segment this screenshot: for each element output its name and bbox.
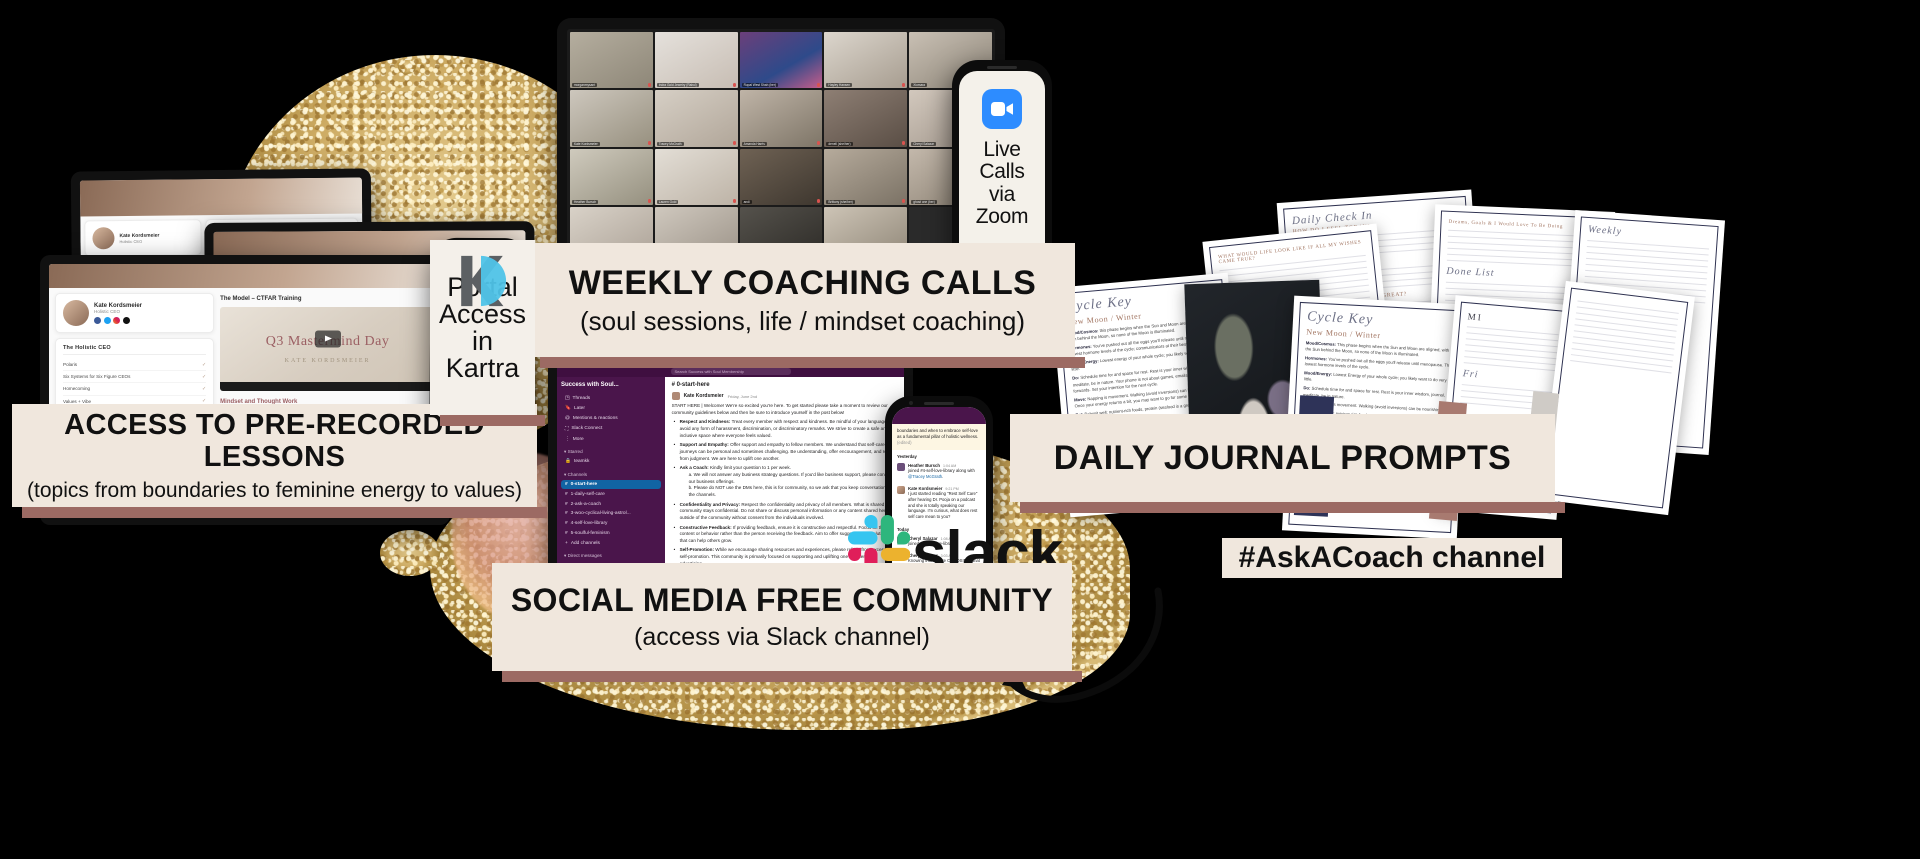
mic-muted-icon xyxy=(817,83,820,87)
zoom-tile[interactable]: morganmysant xyxy=(570,32,653,88)
worksheet-far-right xyxy=(1539,281,1695,515)
banner-weekly-coaching-calls: WEEKLY COACHING CALLS (soul sessions, li… xyxy=(530,243,1075,357)
check-icon: ✓ xyxy=(202,386,206,392)
phone-speaker xyxy=(924,402,954,405)
slack-search-input[interactable]: Search Success with Soul Membership xyxy=(671,368,791,375)
tiktok-icon[interactable] xyxy=(123,317,130,324)
portal-brand: Kate Kordsmeier xyxy=(119,232,159,238)
at-icon: @ xyxy=(565,416,570,421)
bookmark-icon: 🔖 xyxy=(565,406,571,411)
sidebar-section-channels[interactable]: ▾ Channels xyxy=(564,472,661,478)
facebook-icon[interactable] xyxy=(94,317,101,324)
hash-icon: # xyxy=(565,492,568,497)
zoom-participant-grid: morganmysant Indra Gold Jewelry (Rahul) … xyxy=(567,29,995,266)
guideline-item: Ask a Coach: Kindly limit your question … xyxy=(680,465,897,498)
live-calls-via-zoom-label: Live Calls via Zoom xyxy=(976,139,1028,229)
hash-icon: # xyxy=(565,502,568,507)
ellipsis-icon: ⋮ xyxy=(565,437,570,442)
participant-name: Lauren Gold xyxy=(657,200,679,204)
chevron-down-icon: ▾ xyxy=(564,449,566,454)
edited-tag: (edited) xyxy=(897,440,912,445)
portal-lesson-title: The Model – CTFAR Training xyxy=(220,296,435,302)
message-date: Friday, June 2nd xyxy=(728,394,758,399)
zoom-tile[interactable]: Lauren Gold xyxy=(655,149,738,205)
banner-subtitle: (access via Slack channel) xyxy=(634,623,930,651)
avatar xyxy=(897,463,905,471)
participant-name: Cheryl Salazar xyxy=(911,142,936,146)
sidebar-item-slack-connect[interactable]: ⛶ Slack Connect xyxy=(561,423,661,434)
sidebar-section-direct-messages[interactable]: ▾ Direct messages xyxy=(564,553,661,559)
sidebar-channel-3-woo-cyclical-living[interactable]: # 3-woo-cyclical-living-astrol... xyxy=(561,509,661,519)
mic-muted-icon xyxy=(817,199,820,203)
banner-title: WEEKLY COACHING CALLS xyxy=(569,264,1036,302)
sidebar-item-later[interactable]: 🔖 Later xyxy=(561,404,661,414)
sidebar-item-threads[interactable]: ◳ Threads xyxy=(561,394,661,404)
plus-icon: + xyxy=(565,541,568,546)
participant-name: Heather Bursch xyxy=(572,200,598,204)
zoom-tile[interactable]: andi xyxy=(740,149,823,205)
check-icon: ✓ xyxy=(202,362,206,368)
label-line: via xyxy=(976,184,1028,206)
mic-muted-icon xyxy=(902,83,905,87)
connect-icon: ⛶ xyxy=(565,426,568,432)
participant-name: Hayley Hansen xyxy=(826,83,852,87)
sidebar-channel-0-start-here[interactable]: # 0-start-here xyxy=(561,480,661,490)
phone-camera xyxy=(909,401,913,405)
sidebar-item-teamkk[interactable]: 🔒 teamkk xyxy=(561,457,661,467)
mic-muted-icon xyxy=(648,141,651,145)
mic-muted-icon xyxy=(817,141,820,145)
check-icon: ✓ xyxy=(202,374,206,380)
mic-muted-icon xyxy=(902,199,905,203)
sidebar-channel-5-soulful-feminism[interactable]: # 5-soulful-feminism xyxy=(561,529,661,539)
social-links[interactable] xyxy=(94,317,142,324)
message-author: Kate Kordsmeier xyxy=(684,393,724,399)
participant-name: Rupal West Shah (her) xyxy=(742,83,778,87)
hash-icon: # xyxy=(565,521,568,526)
gold-glitter-speck-left2 xyxy=(360,90,370,99)
video-author: KATE KORDSMEIER xyxy=(285,358,371,364)
sidebar-section-starred[interactable]: ▾ Starred xyxy=(564,449,661,455)
avatar xyxy=(897,486,905,494)
mic-muted-icon xyxy=(648,83,651,87)
zoom-tile[interactable]: Amanda Harris xyxy=(740,90,823,146)
sidebar-item-mentions[interactable]: @ Mentions & reactions xyxy=(561,414,661,424)
banner-subtitle: (topics from boundaries to feminine ener… xyxy=(27,479,522,503)
zoom-meeting-screen: morganmysant Indra Gold Jewelry (Rahul) … xyxy=(567,29,995,266)
play-button[interactable] xyxy=(315,330,341,347)
banner-daily-journal-prompts: DAILY JOURNAL PROMPTS xyxy=(1010,414,1555,502)
avatar xyxy=(63,300,89,326)
banner-title: SOCIAL MEDIA FREE COMMUNITY xyxy=(511,583,1053,619)
guideline-subpoint: a. We will not answer any business strat… xyxy=(689,472,897,485)
paper-subtitle: Fri xyxy=(1462,368,1555,387)
avatar xyxy=(672,392,680,400)
mic-muted-icon xyxy=(733,141,736,145)
label-line: in xyxy=(439,328,526,355)
slack-workspace-name[interactable]: Success with Soul... xyxy=(561,382,661,388)
sidebar-add-channels[interactable]: + Add channels xyxy=(561,538,661,548)
ask-a-coach-channel-label: #AskACoach channel xyxy=(1222,538,1562,578)
participant-name: Tracey McGrath xyxy=(657,142,684,146)
portal-brand-sub: Holistic CEO xyxy=(119,238,159,243)
day-divider: Yesterday xyxy=(892,450,986,460)
video-camera-icon xyxy=(991,102,1013,116)
zoom-tile[interactable]: Hayley Hansen xyxy=(824,32,907,88)
message-body: joined #4-self-love-library along with @… xyxy=(908,468,981,480)
participant-name: Brittany (she/her) xyxy=(826,200,854,204)
label-line: Kartra xyxy=(439,355,526,382)
list-item[interactable]: Six Systems for Six Figure CEOs✓ xyxy=(63,371,206,383)
participant-name: Kate Kordsmeier xyxy=(572,142,600,146)
banner-title: DAILY JOURNAL PROMPTS xyxy=(1054,439,1511,477)
list-item[interactable]: Polaris✓ xyxy=(63,359,206,371)
instagram-icon[interactable] xyxy=(113,317,120,324)
mic-muted-icon xyxy=(902,141,905,145)
sidebar-channel-4-self-love-library[interactable]: # 4-self-love-library xyxy=(561,519,661,529)
label-line: Zoom xyxy=(976,206,1028,228)
message-row[interactable]: Heather Bursch1:04 AM joined #4-self-lov… xyxy=(892,460,986,483)
lock-icon: 🔒 xyxy=(565,459,571,464)
participant-name: morganmysant xyxy=(572,83,597,87)
hash-icon: # xyxy=(565,482,568,487)
label-line: Live xyxy=(976,139,1028,161)
hash-icon: # xyxy=(565,511,568,516)
user-mention[interactable]: @Tracey McGrath xyxy=(908,474,942,479)
mic-muted-icon xyxy=(648,199,651,203)
video-player[interactable]: Q3 Mastermind Day KATE KORDSMEIER xyxy=(220,307,435,391)
chevron-down-icon: ▾ xyxy=(564,553,566,558)
gold-glitter-speck-bottom xyxy=(380,530,440,576)
participant-name: denell (she/her) xyxy=(826,142,852,146)
slack-mobile-pinned: boundaries and when to embrace self-love… xyxy=(892,424,986,450)
avatar xyxy=(92,227,114,249)
zoom-app-icon[interactable] xyxy=(982,89,1022,129)
mic-muted-icon xyxy=(733,199,736,203)
banner-subtitle: (soul sessions, life / mindset coaching) xyxy=(580,307,1025,336)
sidebar-channel-2-ask-a-coach[interactable]: # 2-ask-a-coach xyxy=(561,499,661,509)
slack-channel-header[interactable]: # 0-start-here xyxy=(672,382,897,388)
promo-collage: Kate Kordsmeier Holistic CEO The Holisti… xyxy=(0,0,1920,859)
banner-social-media-free-community: SOCIAL MEDIA FREE COMMUNITY (access via … xyxy=(492,563,1072,671)
hash-icon: # xyxy=(565,531,568,536)
mic-muted-icon xyxy=(733,83,736,87)
message-body: I just started reading "Rest Self Care" … xyxy=(908,491,981,520)
pinned-intro: START HERE | Welcome! We're so excited y… xyxy=(672,403,897,416)
phone-speaker xyxy=(987,66,1017,69)
guideline-subpoint: b. Please do NOT use the DMs here, this … xyxy=(689,485,897,498)
zoom-tile[interactable]: Rupal West Shah (her) xyxy=(740,32,823,88)
zoom-tile[interactable]: Tracey McGrath xyxy=(655,90,738,146)
kartra-logo-icon-large xyxy=(448,248,514,314)
participant-name: andi xyxy=(742,200,752,204)
zoom-tile[interactable]: denell (she/her) xyxy=(824,90,907,146)
guideline-item: Respect and Kindness: Treat every member… xyxy=(680,419,897,439)
gold-glitter-speck-left xyxy=(398,60,416,74)
participant-name: ghost one (her) xyxy=(911,200,937,204)
threads-icon: ◳ xyxy=(565,396,570,401)
guideline-item: Support and Empathy: Offer support and e… xyxy=(680,442,897,462)
label-line: Calls xyxy=(976,161,1028,183)
chevron-down-icon: ▾ xyxy=(564,472,566,477)
participant-name: Amanda Harris xyxy=(742,142,767,146)
zoom-tile[interactable]: Heather Bursch xyxy=(570,149,653,205)
zoom-tile[interactable]: Kate Kordsmeier xyxy=(570,90,653,146)
sidebar-item-more[interactable]: ⋮ More xyxy=(561,434,661,444)
zoom-tile[interactable]: Brittany (she/her) xyxy=(824,149,907,205)
slack-mobile-topbar xyxy=(892,407,986,424)
twitter-icon[interactable] xyxy=(104,317,111,324)
participant-name: Xiomara xyxy=(911,83,927,87)
laptop-zoom-call: morganmysant Indra Gold Jewelry (Rahul) … xyxy=(557,18,1005,280)
list-item[interactable]: Homecoming✓ xyxy=(63,383,206,395)
sidebar-channel-1-daily-self-care[interactable]: # 1-daily-self-care xyxy=(561,489,661,499)
zoom-tile[interactable]: Indra Gold Jewelry (Rahul) xyxy=(655,32,738,88)
participant-name: Indra Gold Jewelry (Rahul) xyxy=(657,83,699,87)
